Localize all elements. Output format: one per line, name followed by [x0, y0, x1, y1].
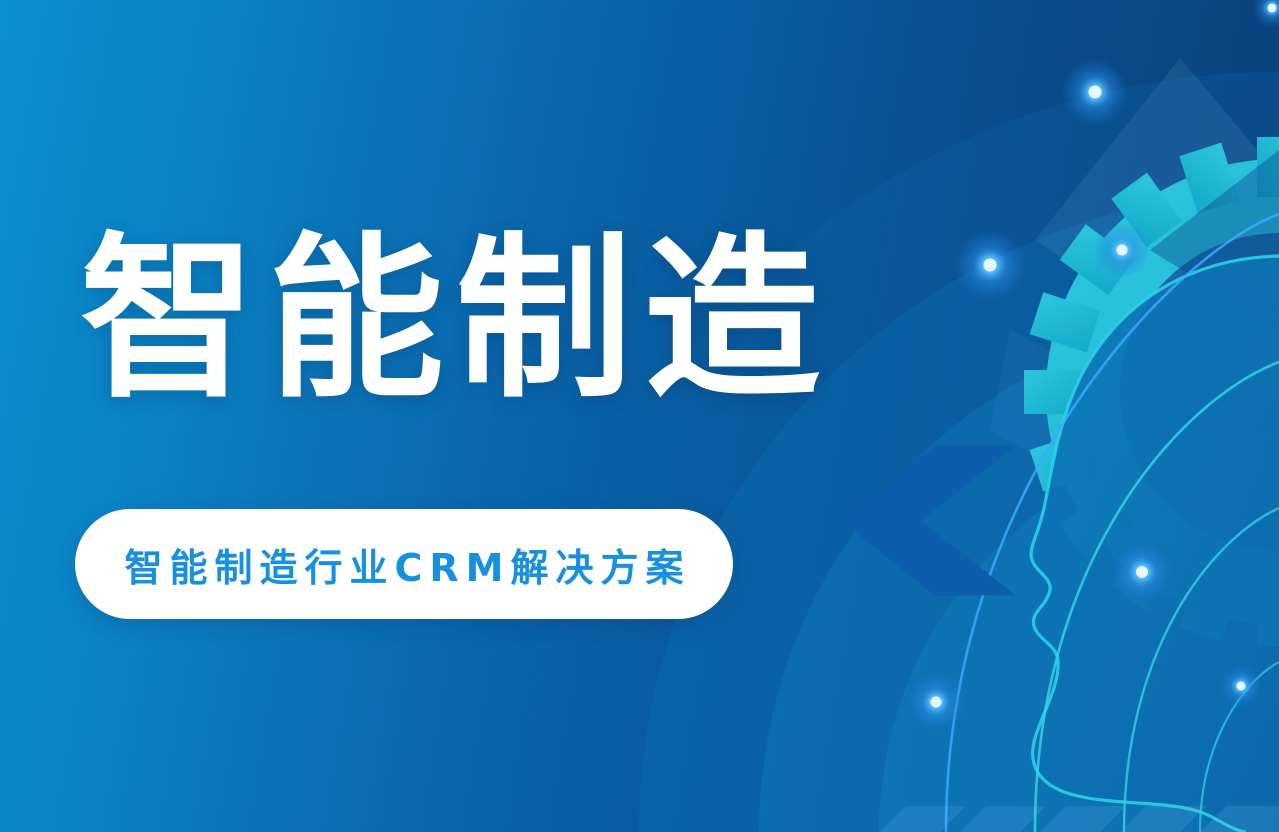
diagonal-stripes [880, 806, 1279, 832]
head-profile-icon [1031, 256, 1279, 832]
subtitle-pill: 智能制造行业CRM解决方案 [75, 509, 733, 619]
subtitle-text: 智能制造行业CRM解决方案 [118, 537, 691, 592]
chevron-left-outline [852, 452, 997, 589]
smart-manufacturing-banner: 智能制造 智能制造行业CRM解决方案 [0, 0, 1279, 832]
arc-curves [946, 214, 1279, 832]
glow-dots [906, 0, 1279, 732]
gear-icon [1024, 137, 1279, 647]
banner-headline: 智能制造 [80, 232, 832, 408]
arc-rings [519, 72, 1279, 832]
wedge-shade [1150, 150, 1279, 330]
chevron-left-solid [822, 452, 995, 589]
rotated-square-overlay [990, 58, 1279, 600]
